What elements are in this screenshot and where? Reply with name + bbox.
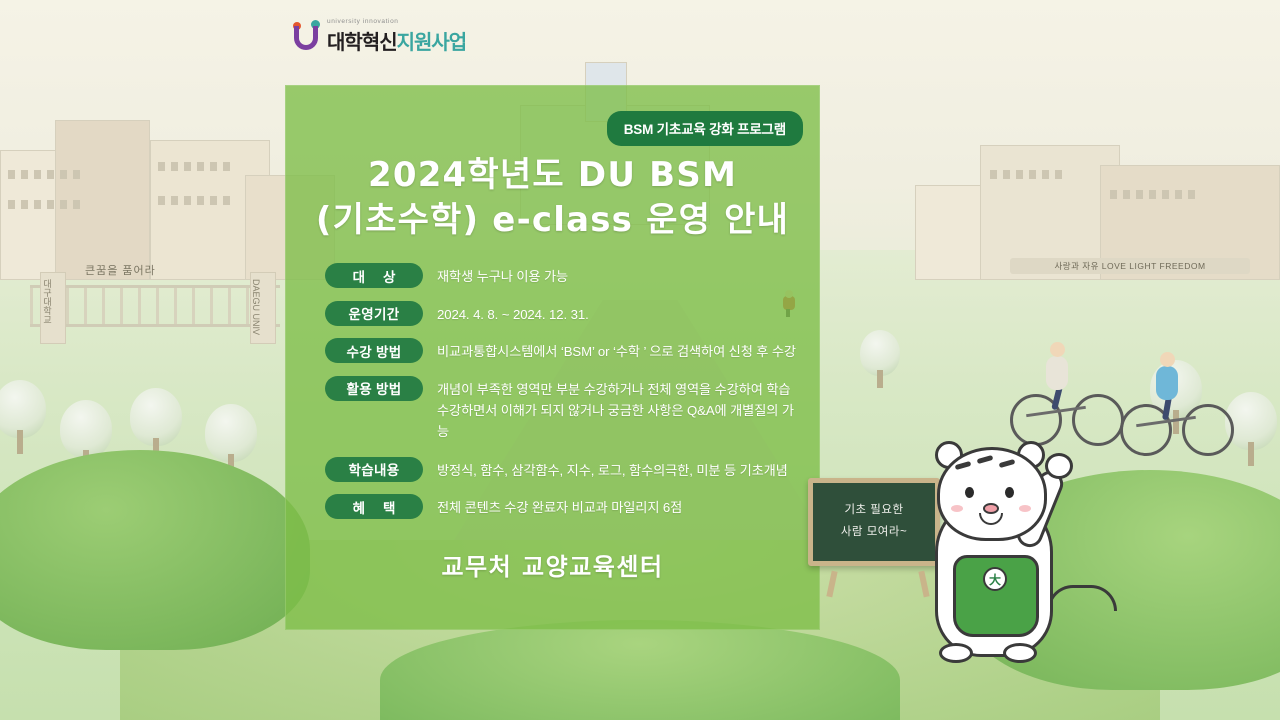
logo-title-part2: 지원사업 xyxy=(397,30,467,54)
gate-pillar-left: 대구대학교 xyxy=(40,272,66,344)
tiger-mascot: 大 xyxy=(895,435,1125,680)
info-row-label: 운영기간 xyxy=(325,301,423,326)
gate-sign-text: 큰꿈을 품어라 xyxy=(85,262,156,278)
page-title-line2: (기초수학) e-class 운영 안내 xyxy=(285,198,820,243)
mascot-paw xyxy=(1045,453,1073,479)
tree xyxy=(860,330,900,388)
logo-u-icon xyxy=(292,19,322,53)
window-row xyxy=(8,170,80,179)
info-row-value: 개념이 부족한 영역만 부분 수강하거나 전체 영역을 수강하여 학습수강하면서… xyxy=(437,376,802,443)
info-row-label: 대상 xyxy=(325,263,423,288)
info-row-label: 수강 방법 xyxy=(325,338,423,363)
info-row-value: 전체 콘텐츠 수강 완료자 비교과 마일리지 6점 xyxy=(437,494,682,518)
info-row-value: 방정식, 함수, 삼각함수, 지수, 로그, 함수의극한, 미분 등 기초개념 xyxy=(437,457,788,481)
info-row-label-b: 택 xyxy=(383,497,395,517)
info-row-label: 활용 방법 xyxy=(325,376,423,401)
info-row-value-line: 전체 콘텐츠 수강 완료자 비교과 마일리지 6점 xyxy=(437,497,682,518)
info-row: 학습내용방정식, 함수, 삼각함수, 지수, 로그, 함수의극한, 미분 등 기… xyxy=(325,457,802,482)
info-row-value-line: 개념이 부족한 영역만 부분 수강하거나 전체 영역을 수강하여 학습 xyxy=(437,379,802,400)
organization-footer: 교무처 교양교육센터 xyxy=(285,547,820,582)
logo-subtitle: university innovation xyxy=(327,18,466,25)
info-row-value-line: 방정식, 함수, 삼각함수, 지수, 로그, 함수의극한, 미분 등 기초개념 xyxy=(437,460,788,481)
tree xyxy=(0,380,46,452)
right-wall-banner: 사랑과 자유 LOVE LIGHT FREEDOM xyxy=(1010,258,1250,274)
info-row: 대상재학생 누구나 이용 가능 xyxy=(325,263,802,288)
info-row: 운영기간2024. 4. 8. ~ 2024. 12. 31. xyxy=(325,301,802,326)
info-row-value-line: 2024. 4. 8. ~ 2024. 12. 31. xyxy=(437,304,589,325)
mascot-eye-left xyxy=(965,487,974,498)
mascot-badge-icon: 大 xyxy=(983,567,1007,591)
poster-panel: BSM 기초교육 강화 프로그램 2024학년도 DU BSM (기초수학) e… xyxy=(285,85,820,630)
poster-canvas: 큰꿈을 품어라 대구대학교 DAEGU UNIV 사랑과 자유 LOVE LIG… xyxy=(0,0,1280,720)
program-logo: university innovation 대학혁신지원사업 xyxy=(292,17,466,55)
mascot-cheek-right xyxy=(1019,505,1031,512)
gate-pillar-right: DAEGU UNIV xyxy=(250,272,276,344)
info-row-label-a: 혜 xyxy=(353,497,365,517)
campus-fence xyxy=(30,285,280,327)
info-row-value-line: 재학생 누구나 이용 가능 xyxy=(437,266,568,287)
info-row-value-line: 수강하면서 이해가 되지 않거나 궁금한 사항은 Q&A에 개별질의 가능 xyxy=(437,400,802,443)
info-row: 혜택전체 콘텐츠 수강 완료자 비교과 마일리지 6점 xyxy=(325,494,802,519)
window-row xyxy=(158,196,230,205)
mascot-eye-right xyxy=(1005,487,1014,498)
info-row-label-a: 대 xyxy=(353,266,365,286)
window-row xyxy=(1110,190,1195,199)
gate-pillar-left-text: 대구대학교 xyxy=(41,279,54,324)
info-row: 활용 방법개념이 부족한 영역만 부분 수강하거나 전체 영역을 수강하여 학습… xyxy=(325,376,802,443)
gate-pillar-right-text: DAEGU UNIV xyxy=(251,279,261,335)
right-wall-text: 사랑과 자유 LOVE LIGHT FREEDOM xyxy=(1010,258,1250,274)
info-row-label: 학습내용 xyxy=(325,457,423,482)
info-row-label-b: 상 xyxy=(383,266,395,286)
program-badge: BSM 기초교육 강화 프로그램 xyxy=(607,111,803,146)
window-row xyxy=(8,200,80,209)
page-title: 2024학년도 DU BSM (기초수학) e-class 운영 안내 xyxy=(285,153,820,243)
page-title-line1: 2024학년도 DU BSM xyxy=(285,153,820,198)
info-row-value: 비교과통합시스템에서 ‘BSM’ or ‘수학 ’ 으로 검색하여 신청 후 수… xyxy=(437,338,796,362)
window-row xyxy=(158,162,230,171)
info-row-value: 재학생 누구나 이용 가능 xyxy=(437,263,568,287)
info-row-label: 혜택 xyxy=(325,494,423,519)
mascot-head xyxy=(937,447,1047,541)
mascot-tail xyxy=(1047,585,1117,611)
info-rows: 대상재학생 누구나 이용 가능운영기간2024. 4. 8. ~ 2024. 1… xyxy=(325,263,802,532)
info-row-value: 2024. 4. 8. ~ 2024. 12. 31. xyxy=(437,301,589,325)
window-row xyxy=(990,170,1062,179)
logo-title-part1: 대학혁신 xyxy=(327,30,397,54)
info-row-value-line: 비교과통합시스템에서 ‘BSM’ or ‘수학 ’ 으로 검색하여 신청 후 수… xyxy=(437,341,796,362)
mascot-foot-left xyxy=(939,643,973,663)
mascot-foot-right xyxy=(1003,643,1037,663)
logo-text-block: university innovation 대학혁신지원사업 xyxy=(327,18,466,55)
mascot-cheek-left xyxy=(951,505,963,512)
info-row: 수강 방법비교과통합시스템에서 ‘BSM’ or ‘수학 ’ 으로 검색하여 신… xyxy=(325,338,802,363)
logo-title: 대학혁신지원사업 xyxy=(327,26,466,55)
